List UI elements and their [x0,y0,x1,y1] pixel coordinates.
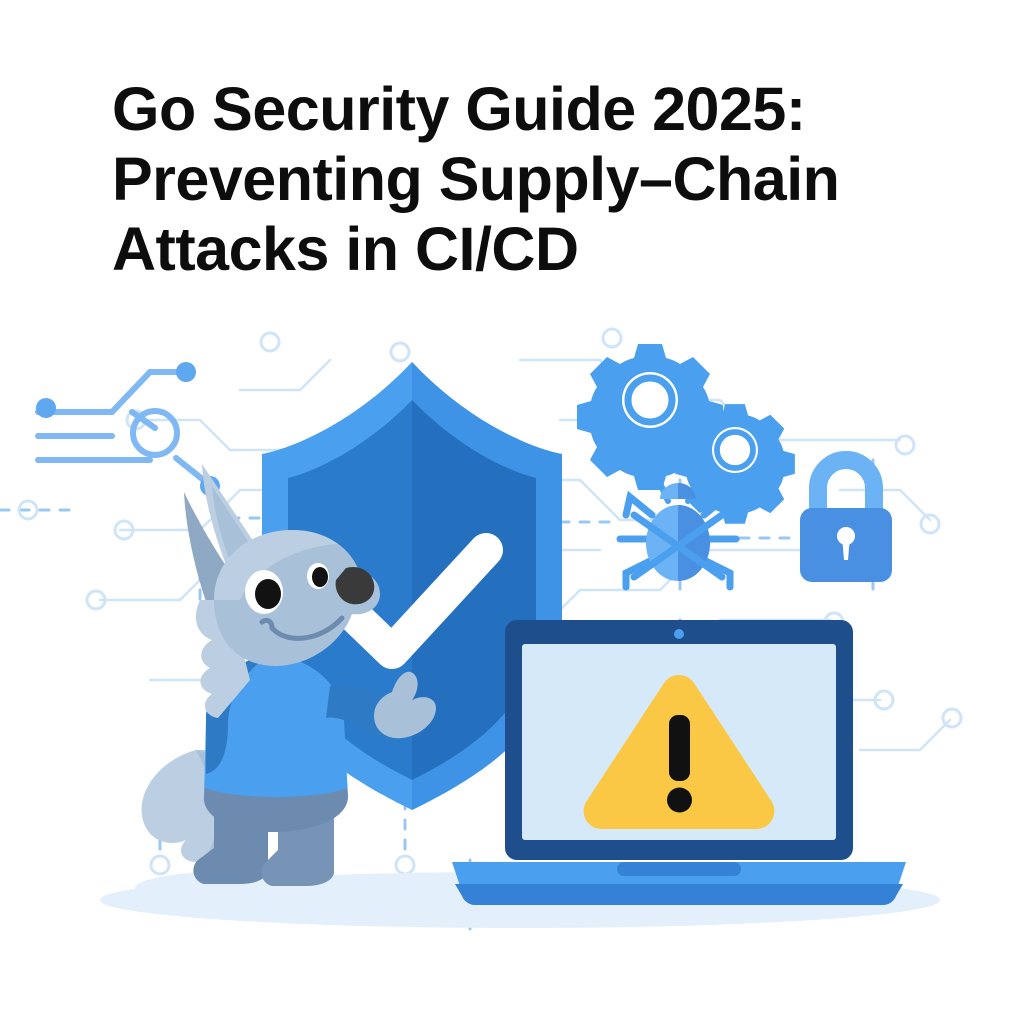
warning-exclamation-dot [667,788,692,813]
hero-illustration [0,300,1024,940]
warning-exclamation-bar [669,715,690,781]
network-search-icon [36,362,220,496]
mascot-eye-near [245,570,283,614]
title-line-2: Preventing Supply–Chain [112,144,902,214]
poster-canvas: Go Security Guide 2025: Preventing Suppl… [0,0,1024,1024]
laptop-base-edge [455,884,903,905]
title-line-3: Attacks in CI/CD [112,214,902,284]
page-title: Go Security Guide 2025: Preventing Suppl… [112,74,902,284]
gear-small [675,404,795,524]
title-line-1: Go Security Guide 2025: [112,74,902,144]
mascot-eye-far [307,563,329,589]
laptop-camera [674,629,684,639]
padlock-icon [800,460,892,582]
bug-icon [620,483,736,587]
laptop-trackpad-notch [617,862,741,876]
laptop-warning [452,620,906,905]
